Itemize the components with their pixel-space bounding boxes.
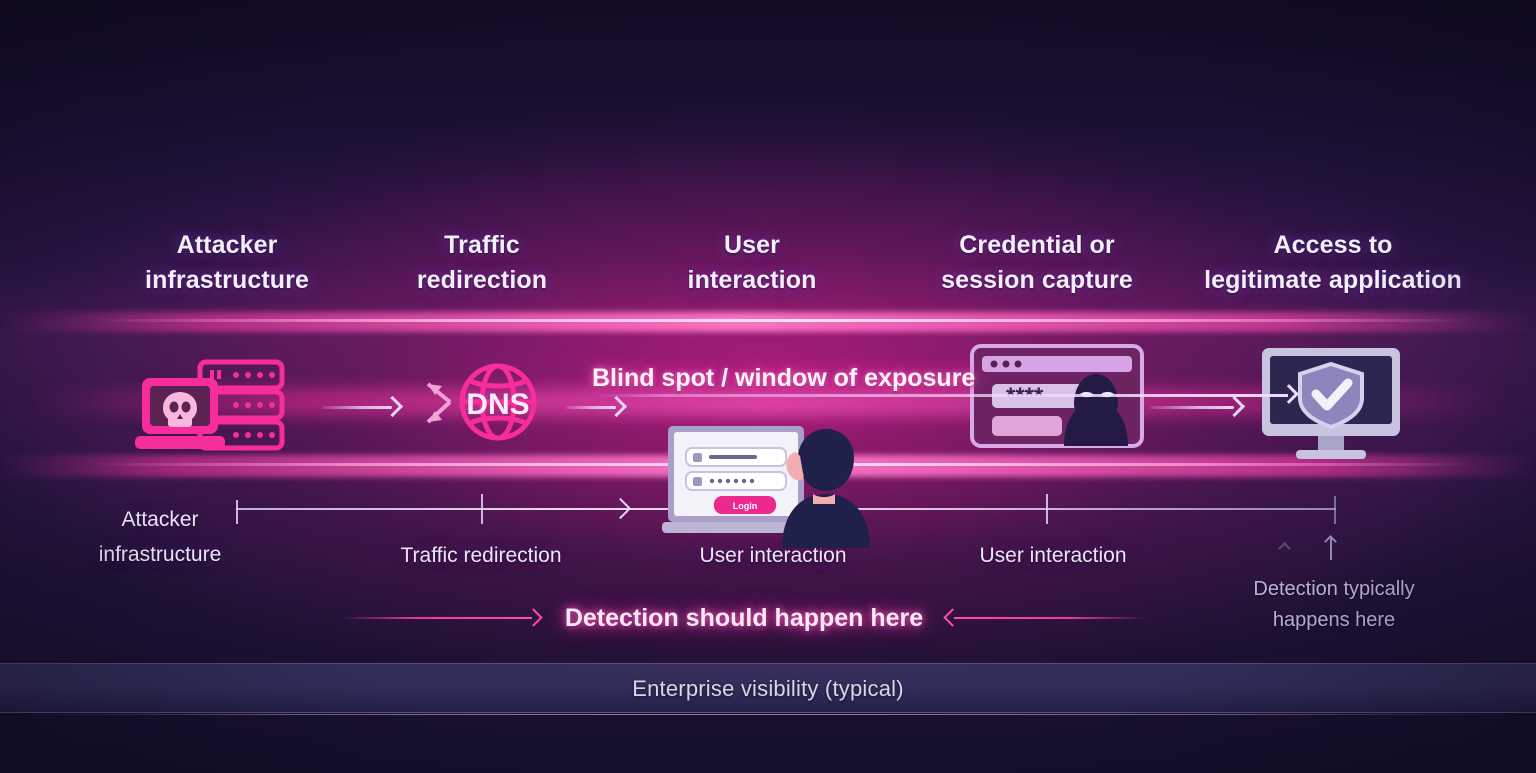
stage-heading-access-legitimate-application: Access to legitimate application (1185, 228, 1481, 298)
login-button-label[interactable]: Login (733, 501, 758, 511)
stage-heading-row: Attacker infrastructure Traffic redirect… (0, 228, 1536, 308)
infographic-canvas: Attacker infrastructure Traffic redirect… (0, 0, 1536, 773)
enterprise-visibility-bar: Enterprise visibility (typical) (0, 663, 1536, 713)
detection-up-arrow-icon (1324, 534, 1338, 560)
shield-icon (1300, 364, 1362, 427)
enterprise-visibility-label: Enterprise visibility (typical) (0, 664, 1536, 714)
detection-arrow-right (946, 610, 1146, 628)
skull-laptop-server-icon (128, 356, 306, 458)
connector-arrow-attacker-to-dns (322, 396, 400, 418)
stage-heading-credential-capture: Credential or session capture (917, 228, 1157, 298)
stage-heading-user-interaction: User interaction (651, 228, 853, 298)
enterprise-visibility-underline (0, 714, 1536, 715)
blind-spot-label: Blind spot / window of exposure (592, 364, 975, 393)
timeline-label-user-interaction-right: User interaction (942, 538, 1164, 573)
stage-heading-attacker-infrastructure: Attacker infrastructure (118, 228, 336, 298)
user-login-screen-icon: Login (662, 418, 894, 548)
skull-icon (163, 392, 197, 427)
stage-heading-traffic-redirection: Traffic redirection (381, 228, 583, 298)
timeline-label-traffic-redirection: Traffic redirection (370, 538, 592, 573)
detection-should-row: Detection should happen here (0, 598, 1536, 640)
dns-globe-icon: DNS (406, 354, 564, 450)
glow-band-top (0, 312, 1536, 332)
glow-band-top-core (0, 319, 1536, 322)
dns-label: DNS (466, 388, 529, 421)
detection-should-label: Detection should happen here (558, 598, 930, 638)
detection-arrow-left (340, 610, 540, 628)
timeline-label-attacker-infrastructure: Attacker infrastructure (60, 502, 260, 572)
